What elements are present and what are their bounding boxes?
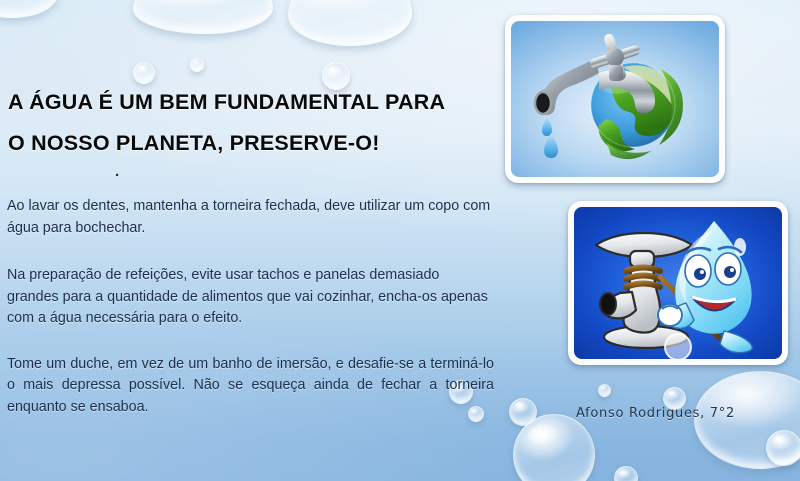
paragraph-cooking-meals: Na preparação de refeições, evite usar t… — [7, 265, 494, 330]
water-droplet-tiny — [190, 58, 204, 72]
author-signature: Afonso Rodrigues, 7°2 — [576, 406, 735, 421]
bubble-graphic — [665, 334, 691, 359]
water-droplet-small — [614, 466, 638, 481]
droplet-rope-illustration — [574, 207, 782, 359]
droplet-rope-photo — [574, 207, 782, 359]
paragraph-brushing-teeth: Ao lavar os dentes, mantenha a torneira … — [7, 196, 494, 239]
paragraph-shower: Tome um duche, em vez de um banho de ime… — [7, 354, 494, 419]
faucet-globe-illustration — [511, 21, 719, 177]
faucet-globe-photo — [511, 21, 719, 177]
water-droplet-small — [133, 62, 155, 84]
page-title-line-1: A ÁGUA É UM BEM FUNDAMENTAL PARA — [8, 90, 445, 114]
faucet-globe-image[interactable] — [505, 15, 725, 183]
page-title-line-2: O NOSSO PLANETA, PRESERVE-O! — [8, 123, 500, 164]
water-droplet-large — [513, 414, 595, 481]
title-separator-dot: . — [115, 163, 119, 180]
slide-canvas: A ÁGUA É UM BEM FUNDAMENTAL PARA O NOSSO… — [0, 0, 800, 481]
water-drip-graphic — [542, 117, 558, 158]
water-droplet-tiny — [598, 384, 611, 397]
water-droplet-large — [288, 0, 412, 46]
water-droplet-medium — [0, 0, 58, 18]
body-text-block: Ao lavar os dentes, mantenha a torneira … — [7, 196, 494, 418]
water-droplet-large — [133, 0, 273, 34]
water-droplet-small — [766, 430, 800, 466]
droplet-rope-image[interactable] — [568, 201, 788, 365]
page-title: A ÁGUA É UM BEM FUNDAMENTAL PARA O NOSSO… — [8, 82, 500, 164]
